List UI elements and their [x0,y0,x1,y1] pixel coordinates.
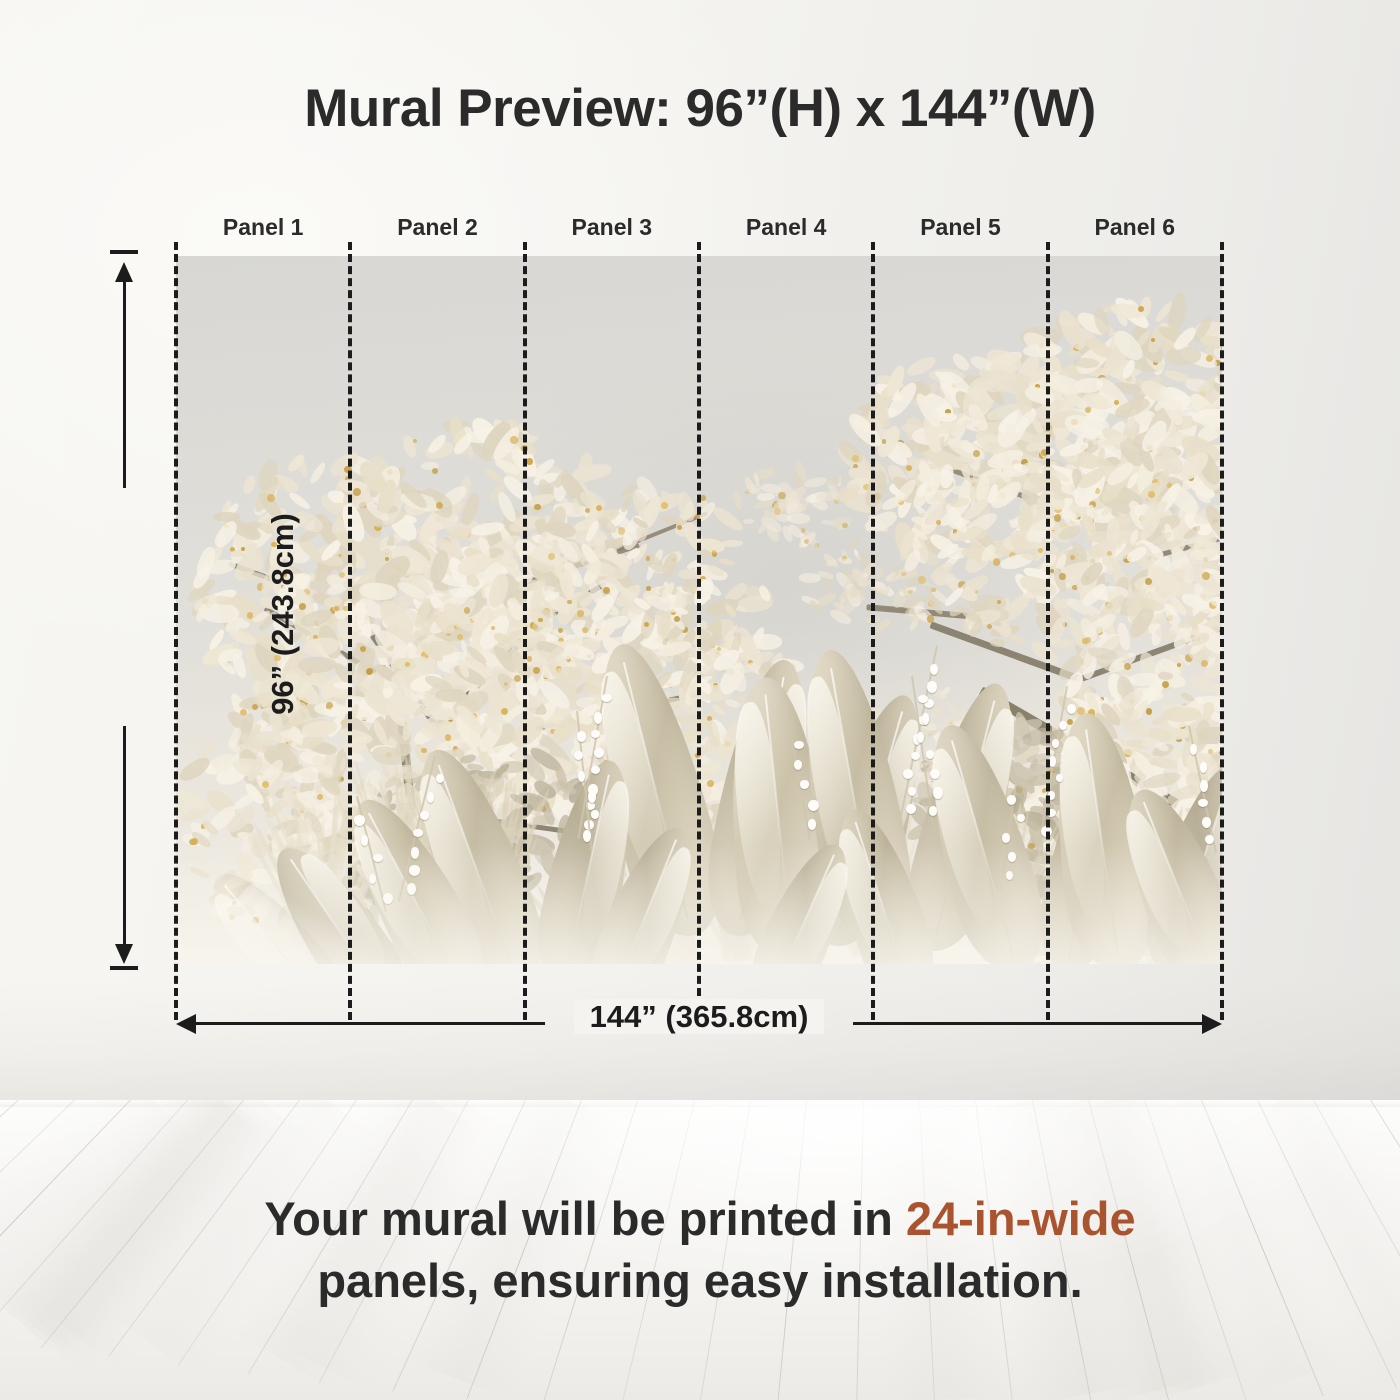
pampas-blade [840,820,859,956]
pampas-blade [580,860,601,964]
berry-dot [1084,710,1091,717]
foliage-leaf [413,642,433,655]
foliage-leaf [676,685,698,718]
foliage-leaf [1057,360,1086,381]
foliage-leaf [465,809,482,817]
pampas-blade [856,852,882,956]
pampas-blade [485,833,516,962]
foliage-leaf [494,522,516,547]
foliage-leaf [493,457,522,478]
foliage-leaf [493,935,522,954]
foliage-leaf [1110,813,1145,837]
foliage-leaf [573,803,607,824]
foliage-leaf [376,842,407,864]
foliage-leaf [515,788,552,816]
leaf-midrib [223,884,324,964]
foliage-leaf [1079,444,1118,465]
foliage-leaf [971,726,1005,754]
foliage-leaf [1178,705,1188,723]
foliage-leaf [888,733,903,742]
foliage-leaf [662,731,688,762]
foliage-leaf [214,762,233,776]
foliage-leaf [503,806,520,825]
foliage-leaf [561,646,581,661]
foliage-leaf [1151,901,1189,938]
foliage-leaf [882,620,895,631]
foliage-leaf [288,751,325,785]
foliage-leaf [368,793,381,814]
foliage-leaf [512,663,547,687]
foliage-leaf [432,795,459,821]
pampas-blade [407,823,424,956]
tropical-leaf [393,736,559,964]
foliage-leaf [1077,494,1097,516]
berry-dot [548,553,555,560]
foliage-leaf [1183,627,1202,643]
foliage-leaf [1081,425,1105,440]
foliage-leaf [884,568,908,584]
berry-dot [241,547,245,551]
berry-dot [1201,660,1208,667]
berry-dot [321,762,328,769]
lily-flower [927,681,937,692]
foliage-leaf [959,451,983,466]
foliage-leaf [916,440,935,455]
foliage-leaf [1193,449,1222,488]
foliage-leaf [394,668,417,678]
pampas-blade [318,858,331,956]
foliage-leaf [1180,728,1201,768]
berry-dot [1170,419,1176,425]
foliage-leaf [1084,827,1105,859]
foliage-leaf [1074,763,1107,806]
foliage-leaf [444,539,464,563]
berry-dot [436,502,443,509]
foliage-leaf [874,423,905,460]
foliage-leaf [953,414,968,430]
foliage-leaf [482,856,519,888]
foliage-leaf [1153,407,1171,424]
pampas-blade [958,829,985,961]
foliage-leaf [1194,417,1222,446]
pampas-blade [410,821,478,956]
foliage-leaf [1129,457,1163,477]
foliage-leaf [282,787,300,801]
foliage-leaf [438,901,454,925]
foliage-leaf [1170,568,1191,580]
foliage-leaf [1165,743,1201,771]
foliage-leaf [1135,373,1164,398]
foliage-leaf [264,797,289,821]
foliage-leaf [293,766,330,785]
pampas-blade [966,855,988,961]
foliage-leaf [1189,718,1214,755]
foliage-leaf [510,685,551,721]
foliage-leaf [1048,542,1084,570]
berry-dot [1114,835,1121,842]
foliage-leaf [577,700,612,724]
pampas-blade [1112,837,1139,957]
foliage-leaf [929,761,942,781]
foliage-leaf [1099,355,1139,390]
foliage-leaf [552,593,572,617]
foliage-leaf [366,507,381,525]
foliage-leaf [339,502,367,544]
foliage-leaf [224,804,259,836]
fan-leaf-ray [782,960,820,964]
foliage-leaf [472,575,503,608]
foliage-leaf [1165,292,1190,336]
foliage-leaf [1002,787,1023,818]
foliage-leaf [249,765,274,781]
foliage-leaf [1133,573,1163,591]
berry-dot [240,709,248,717]
leaf-midrib [1170,778,1222,959]
foliage-leaf [800,594,819,606]
foliage-leaf [1111,739,1139,775]
foliage-leaf [1071,834,1102,849]
foliage-leaf [875,372,907,395]
foliage-leaf [1181,744,1215,777]
foliage-leaf [349,507,390,527]
foliage-leaf [1088,554,1113,582]
pampas-blade [444,797,484,961]
berry-dot [677,775,683,781]
foliage-leaf [366,680,399,697]
pampas-blade [874,853,881,956]
foliage-leaf [753,473,764,489]
pampas-blade [281,844,332,956]
foliage-leaf [936,754,964,786]
foliage-leaf [487,607,520,624]
foliage-leaf [632,739,652,759]
foliage-leaf [434,689,468,726]
foliage-leaf [1019,452,1041,480]
berry-dot [1035,520,1040,525]
pampas-blade [803,856,858,957]
pampas-blade [376,777,433,956]
foliage-leaf [915,720,935,729]
foliage-leaf [545,541,577,556]
foliage-leaf [242,643,263,675]
foliage-leaf [575,451,596,484]
pampas-blade [327,814,337,956]
width-dimension-text: 144” (365.8cm) [574,999,825,1034]
foliage-leaf [368,813,392,825]
pampas-blade [699,811,738,961]
pampas-blade [321,815,391,957]
foliage-leaf [1047,759,1071,792]
berry-dot [577,610,583,616]
berry-dot [1088,709,1095,716]
foliage-leaf [540,587,571,619]
foliage-leaf [1113,395,1152,421]
pampas-blade [403,828,467,962]
foliage-leaf [1052,834,1085,863]
pampas-blade [1143,824,1188,957]
foliage-leaf [1115,396,1153,419]
foliage-leaf [827,473,846,487]
foliage-leaf [307,738,338,757]
foliage-leaf [1105,538,1129,562]
foliage-leaf [227,588,269,630]
foliage-leaf [595,514,618,536]
foliage-leaf [958,723,980,744]
foliage-leaf [560,542,592,577]
pampas-blade [1143,864,1188,961]
foliage-leaf [532,471,560,487]
foliage-leaf [1137,513,1164,543]
foliage-leaf [1104,459,1138,489]
foliage-leaf [1159,836,1188,866]
foliage-leaf [224,615,253,636]
berry-dot [1035,384,1039,388]
pampas-blade [721,803,730,961]
berry-dot [540,806,546,812]
foliage-leaf [545,504,570,538]
foliage-leaf [1190,396,1222,427]
foliage-leaf [457,739,485,758]
foliage-leaf [429,644,460,666]
foliage-leaf [807,491,831,513]
foliage-leaf [1167,915,1194,934]
foliage-leaf [592,619,619,643]
foliage-leaf [1012,375,1034,419]
foliage-leaf [459,809,495,840]
foliage-leaf [396,617,428,642]
foliage-leaf [990,595,1013,618]
foliage-leaf [767,798,792,813]
foliage-leaf [194,739,219,764]
foliage-leaf [611,860,629,880]
berry-dot [191,838,198,845]
foliage-leaf [529,603,558,622]
lily-flower [929,806,937,816]
foliage-leaf [224,708,254,737]
lily-flower [926,750,934,758]
berry-dot [1114,400,1119,405]
foliage-leaf [722,580,750,605]
leaf-highlight [726,701,787,907]
lily-stem [788,721,810,839]
foliage-leaf [451,661,488,690]
foliage-leaf [1150,867,1173,879]
foliage-leaf [415,539,452,575]
foliage-leaf [1058,520,1083,536]
foliage-leaf [894,439,915,461]
foliage-leaf [497,759,512,781]
foliage-leaf [659,489,677,506]
foliage-leaf [1070,467,1088,497]
foliage-leaf [1181,948,1207,964]
foliage-leaf [720,733,734,752]
berry-dot [527,656,532,661]
pampas-blade [1144,854,1183,957]
foliage-leaf [1136,650,1162,686]
foliage-leaf [958,723,976,739]
fan-leaf-ray [1053,891,1087,957]
berry-dot [1179,722,1187,730]
foliage-leaf [883,363,909,398]
berry-dot [1039,343,1044,348]
foliage-leaf [1194,594,1222,618]
foliage-leaf [1084,728,1099,745]
foliage-leaf [297,771,334,787]
foliage-leaf [1110,769,1143,796]
foliage-leaf [391,808,410,829]
foliage-leaf [370,745,393,755]
foliage-leaf [308,615,328,624]
foliage-leaf [528,584,546,611]
foliage-leaf [1021,361,1059,405]
foliage-leaf [455,595,480,623]
foliage-leaf [464,800,494,823]
foliage-leaf [591,840,615,866]
foliage-leaf [450,563,482,591]
lily-flower [908,787,916,796]
berry-dot [386,822,390,826]
foliage-leaf [1159,331,1188,352]
foliage-leaf [1095,788,1109,807]
foliage-leaf [1028,487,1055,506]
foliage-leaf [662,763,681,785]
foliage-leaf [1047,406,1065,420]
berry-dot [1145,578,1152,585]
foliage-leaf [342,578,364,593]
foliage-leaf [596,549,633,570]
lily-flower [808,800,819,812]
foliage-leaf [903,602,922,619]
foliage-leaf [1021,457,1044,465]
berry-dot [1142,398,1148,404]
foliage-leaf [1052,596,1077,610]
foliage-leaf [303,833,348,863]
foliage-leaf [700,787,714,804]
berry-dot [331,850,336,855]
berry-dot [314,620,319,625]
foliage-leaf [416,574,438,596]
foliage-leaf [313,701,348,717]
pampas-blade [573,889,607,964]
foliage-leaf [522,609,554,648]
foliage-leaf [391,766,409,775]
foliage-leaf [377,487,408,528]
foliage-leaf [533,663,560,682]
fan-leaf-ray [769,922,819,962]
pampas-blade [578,840,622,964]
foliage-leaf [501,801,538,832]
foliage-leaf [1073,377,1102,393]
foliage-leaf [1192,456,1222,494]
berry-dot [587,654,591,658]
foliage-leaf [265,831,300,857]
foliage-leaf [1055,443,1076,467]
foliage-leaf [448,690,487,720]
foliage-leaf [490,788,517,812]
foliage-leaf [260,760,290,802]
foliage-leaf [665,841,681,853]
foliage-leaf [775,503,788,511]
foliage-leaf [363,902,382,941]
foliage-leaf [570,823,598,849]
pampas-blade [479,809,521,962]
berry-dot [804,539,809,544]
foliage-leaf [1188,637,1207,656]
foliage-leaf [959,708,977,723]
foliage-leaf [273,909,300,937]
foliage-leaf [993,900,1016,920]
foliage-leaf [450,557,469,587]
foliage-leaf [913,839,933,862]
foliage-leaf [393,798,436,836]
foliage-leaf [414,817,427,835]
foliage-leaf [991,744,1015,763]
berry-dot [691,589,696,594]
foliage-leaf [467,674,492,695]
foliage-leaf [573,736,585,756]
foliage-leaf [625,547,641,562]
foliage-leaf [1184,376,1212,395]
foliage-leaf [1105,672,1126,703]
foliage-leaf [664,702,681,713]
foliage-leaf [1181,442,1219,491]
foliage-leaf [1093,580,1110,594]
foliage-leaf [960,397,1001,427]
foliage-leaf [1007,517,1033,531]
foliage-leaf [417,532,440,568]
berry-dot [908,590,912,594]
foliage-leaf [447,790,476,816]
foliage-leaf [252,763,294,783]
foliage-leaf [375,570,405,607]
pampas-blade [1115,836,1148,956]
foliage-leaf [1170,840,1204,868]
lily-flower [918,695,928,704]
foliage-leaf [1112,907,1126,936]
foliage-leaf [380,761,391,780]
berry-dot [493,748,500,755]
foliage-leaf [539,666,563,693]
berry-dot [463,959,469,964]
foliage-leaf [257,790,273,814]
fan-leaf-ray [810,961,822,964]
foliage-leaf [1113,800,1130,819]
foliage-leaf [354,857,379,884]
foliage-leaf [1169,400,1184,430]
foliage-leaf [993,349,1012,368]
foliage-leaf [978,821,1016,845]
foliage-leaf [256,758,287,793]
foliage-leaf [333,526,371,560]
foliage-leaf [690,799,731,833]
foliage-leaf [974,475,992,503]
foliage-leaf [942,772,957,789]
foliage-leaf [370,625,415,667]
foliage-leaf [658,733,682,741]
foliage-leaf [618,786,655,830]
foliage-leaf [438,501,466,525]
berry-dot [1151,486,1156,491]
leaf-highlight [919,745,1002,926]
foliage-leaf [199,601,240,625]
foliage-leaf [906,570,919,580]
foliage-leaf [454,801,485,814]
foliage-leaf [838,596,846,608]
pampas-blade [424,796,512,957]
foliage-leaf [418,640,445,665]
foliage-leaf [1142,847,1166,879]
foliage-leaf [467,633,495,655]
